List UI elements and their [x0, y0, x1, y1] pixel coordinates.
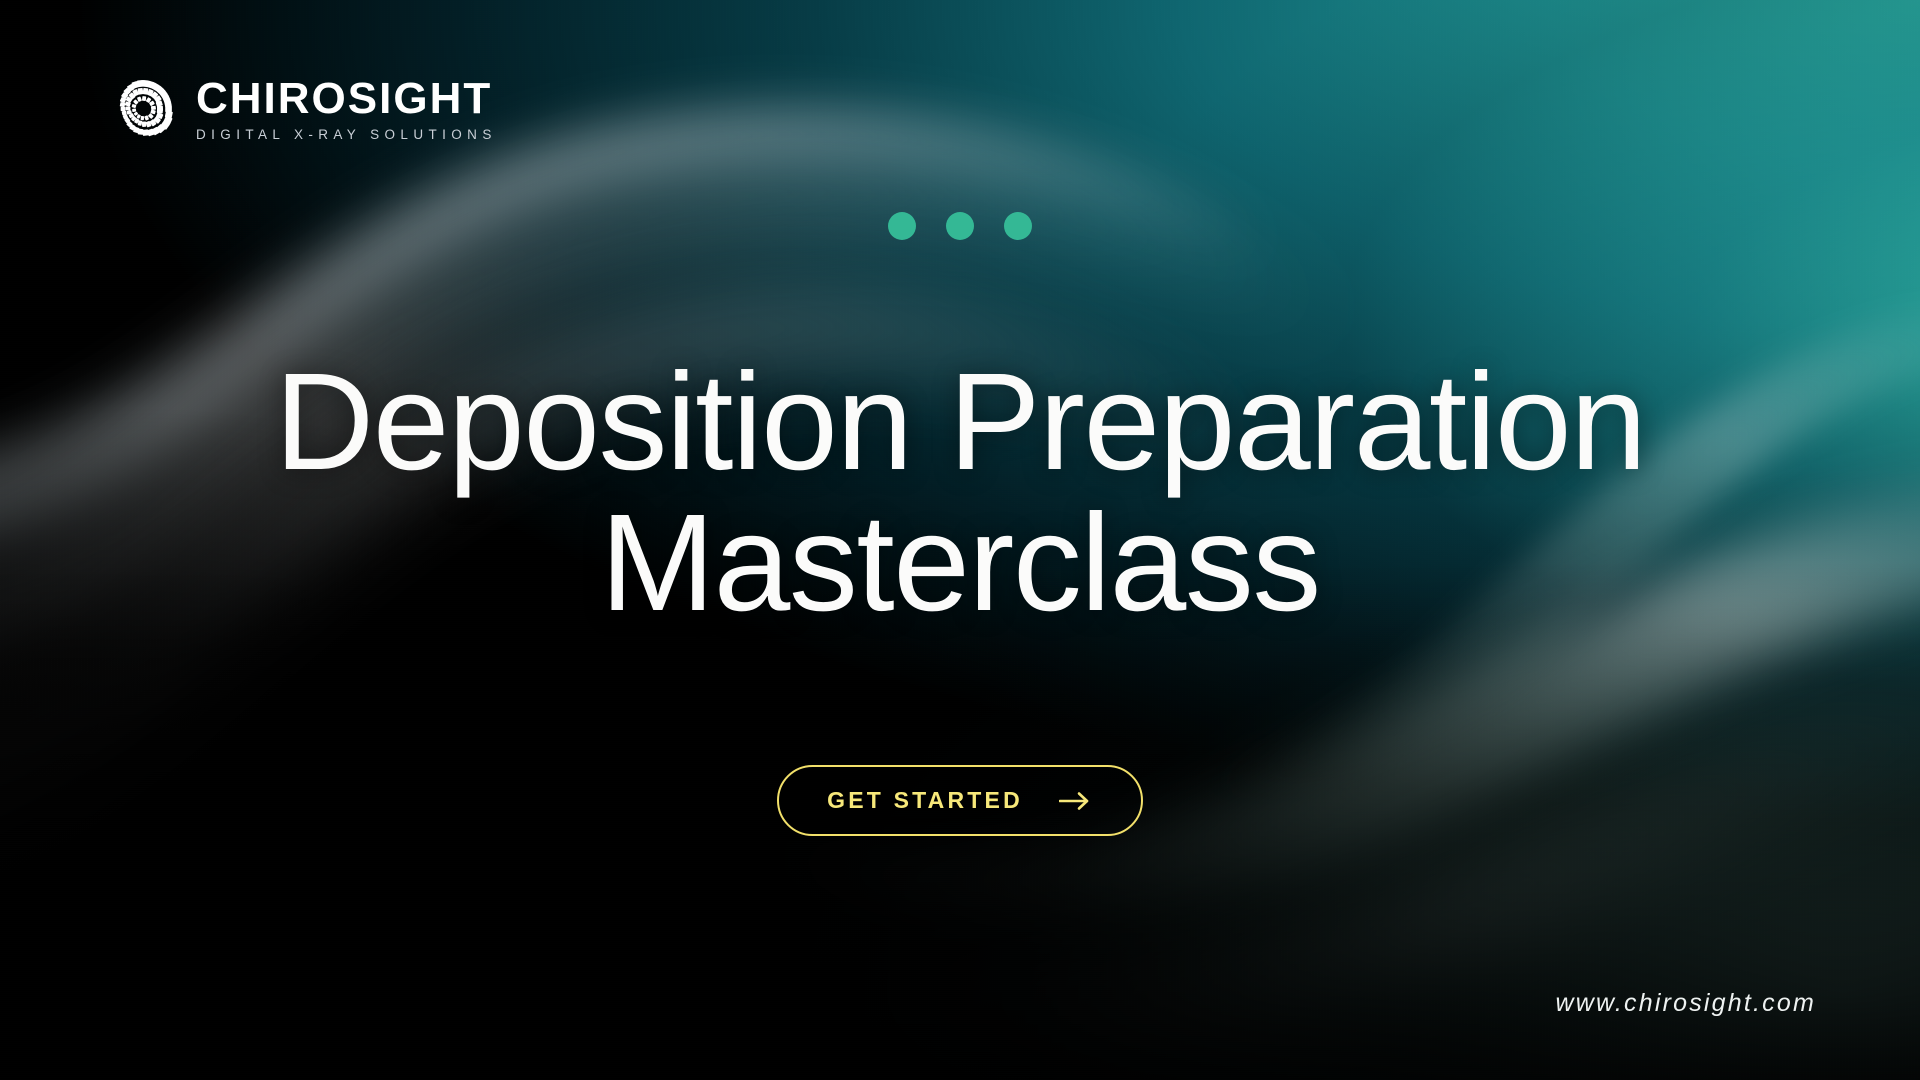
- decorative-dots: [0, 212, 1920, 240]
- cta-container: GET STARTED: [0, 765, 1920, 836]
- get-started-button[interactable]: GET STARTED: [777, 765, 1143, 836]
- hero-banner: CHIROSIGHT DIGITAL X-RAY SOLUTIONS Depos…: [0, 0, 1920, 1080]
- brand-name: CHIROSIGHT: [196, 77, 497, 121]
- radial-mosaic-spiral-icon: [106, 72, 180, 146]
- decorative-dot-2: [946, 212, 974, 240]
- arrow-right-icon: [1059, 791, 1093, 811]
- decorative-dot-1: [888, 212, 916, 240]
- decorative-dot-3: [1004, 212, 1032, 240]
- page-title-line-2: Masterclass: [0, 493, 1920, 634]
- brand-logotype: CHIROSIGHT DIGITAL X-RAY SOLUTIONS: [196, 77, 497, 142]
- website-url[interactable]: www.chirosight.com: [1556, 989, 1817, 1018]
- brand-logo[interactable]: CHIROSIGHT DIGITAL X-RAY SOLUTIONS: [106, 72, 497, 146]
- brand-tagline: DIGITAL X-RAY SOLUTIONS: [196, 128, 497, 142]
- page-title-line-1: Deposition Preparation: [0, 352, 1920, 493]
- page-title: Deposition Preparation Masterclass: [0, 352, 1920, 634]
- get-started-label: GET STARTED: [827, 789, 1023, 812]
